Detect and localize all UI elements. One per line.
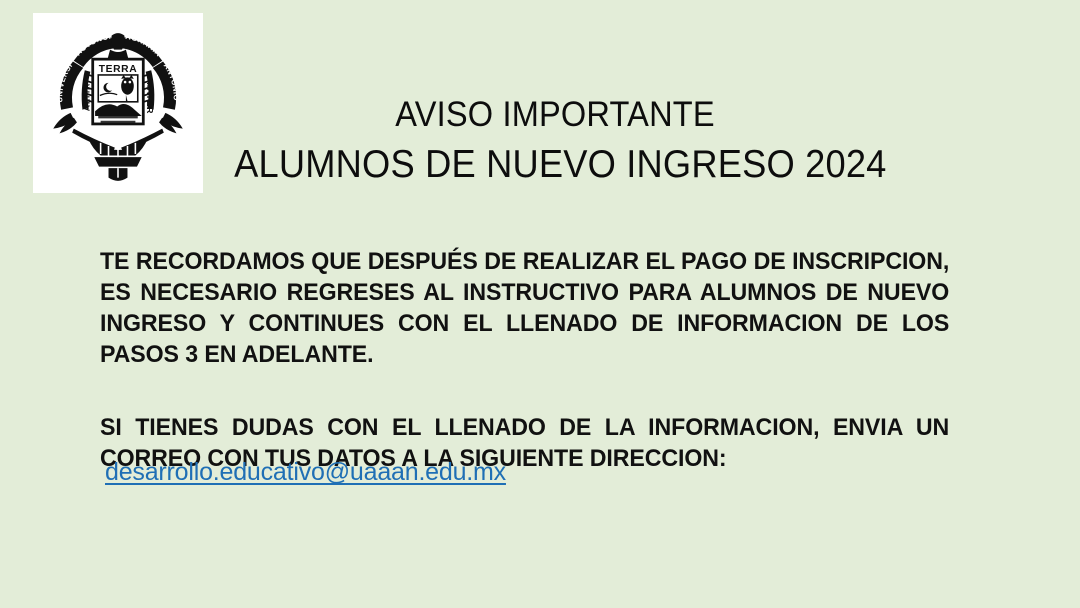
page-title-line-1: AVISO IMPORTANTE xyxy=(234,92,876,138)
university-logo-panel: AUTONOMA AGRARIA UNIVERSIDAD ANTONIO NAR… xyxy=(33,13,203,193)
page-title-line-2: ALUMNOS DE NUEVO INGRESO 2024 xyxy=(234,138,876,192)
svg-text:MATER: MATER xyxy=(145,80,155,114)
contact-email-row: desarrollo.educativo@uaaan.edu.mx xyxy=(105,458,506,487)
uaaan-crest-icon: AUTONOMA AGRARIA UNIVERSIDAD ANTONIO NAR… xyxy=(39,18,197,188)
svg-text:TERRA: TERRA xyxy=(99,64,138,75)
notice-slide: AUTONOMA AGRARIA UNIVERSIDAD ANTONIO NAR… xyxy=(0,0,1080,608)
contact-email-link[interactable]: desarrollo.educativo@uaaan.edu.mx xyxy=(105,458,506,486)
notice-paragraph-1: TE RECORDAMOS QUE DESPUÉS DE REALIZAR EL… xyxy=(100,246,949,370)
svg-text:AUTONOMA: AUTONOMA xyxy=(39,18,116,57)
title-block: AVISO IMPORTANTE ALUMNOS DE NUEVO INGRES… xyxy=(210,92,900,192)
svg-text:ALMA: ALMA xyxy=(82,83,92,111)
body-block: TE RECORDAMOS QUE DESPUÉS DE REALIZAR EL… xyxy=(100,246,980,474)
